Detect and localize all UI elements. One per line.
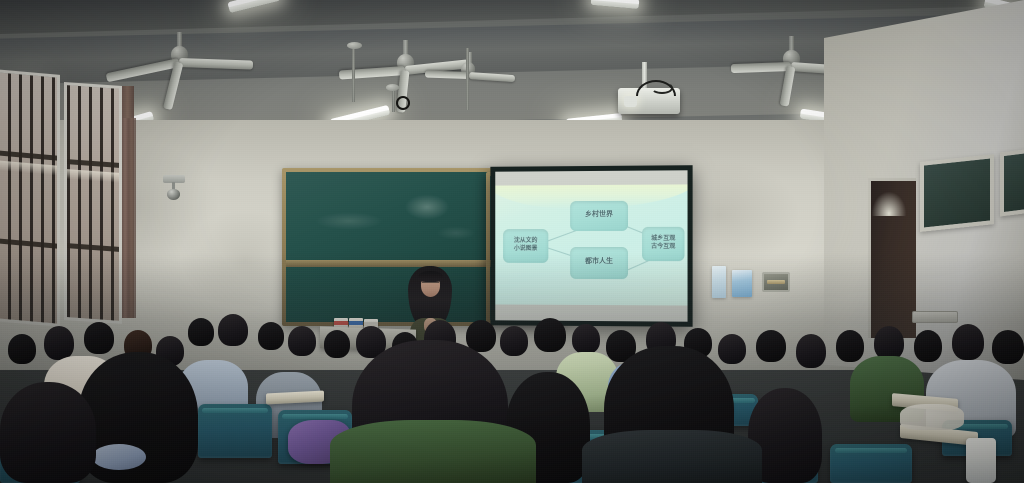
node-line: 城乡互观 — [651, 236, 675, 244]
conduit-head — [386, 84, 399, 91]
cloth-on-desk — [900, 404, 964, 430]
interior-window — [1000, 148, 1024, 217]
lecture-seat[interactable] — [198, 404, 272, 458]
student-head — [836, 330, 864, 362]
student-head — [952, 324, 984, 360]
foreground-student-head — [0, 382, 96, 483]
conduit-head — [347, 42, 362, 49]
node-line: 小说图景 — [514, 246, 538, 253]
student-head — [874, 326, 904, 360]
ceiling-conduit — [466, 48, 469, 110]
student-head — [572, 324, 600, 354]
lecture-seat[interactable] — [830, 444, 912, 483]
student-head — [500, 326, 528, 356]
door-light-glow — [872, 192, 906, 216]
diagram-node-top: 乡村世界 — [570, 200, 628, 230]
water-bottle[interactable] — [966, 438, 996, 483]
student-head — [534, 318, 566, 352]
student-jacket — [582, 430, 762, 483]
node-line: 乡村世界 — [585, 211, 613, 220]
student-head — [914, 330, 942, 362]
student-hoodie — [330, 420, 536, 483]
node-line: 沈从文的 — [514, 238, 538, 245]
student-head — [188, 318, 214, 346]
student-head — [288, 326, 316, 356]
student-head — [324, 330, 350, 358]
node-line: 古今互观 — [651, 243, 675, 251]
interior-window — [920, 154, 994, 232]
student-head — [84, 322, 114, 354]
hanging-hook-icon — [396, 96, 410, 110]
student-head — [756, 330, 786, 362]
dome-security-camera-icon — [167, 189, 180, 200]
student-head — [218, 314, 248, 346]
student-head — [44, 326, 74, 360]
hair-scrunchie — [92, 444, 146, 470]
student-head — [796, 334, 826, 368]
student-head — [8, 334, 36, 364]
lecture-hall-photo: 沈从文的 小说图景 乡村世界 都市人生 城乡互观 古今互观 — [0, 0, 1024, 483]
ceiling-conduit — [352, 44, 355, 102]
student-head — [718, 334, 746, 364]
student-head — [258, 322, 284, 350]
student-head — [992, 330, 1024, 364]
